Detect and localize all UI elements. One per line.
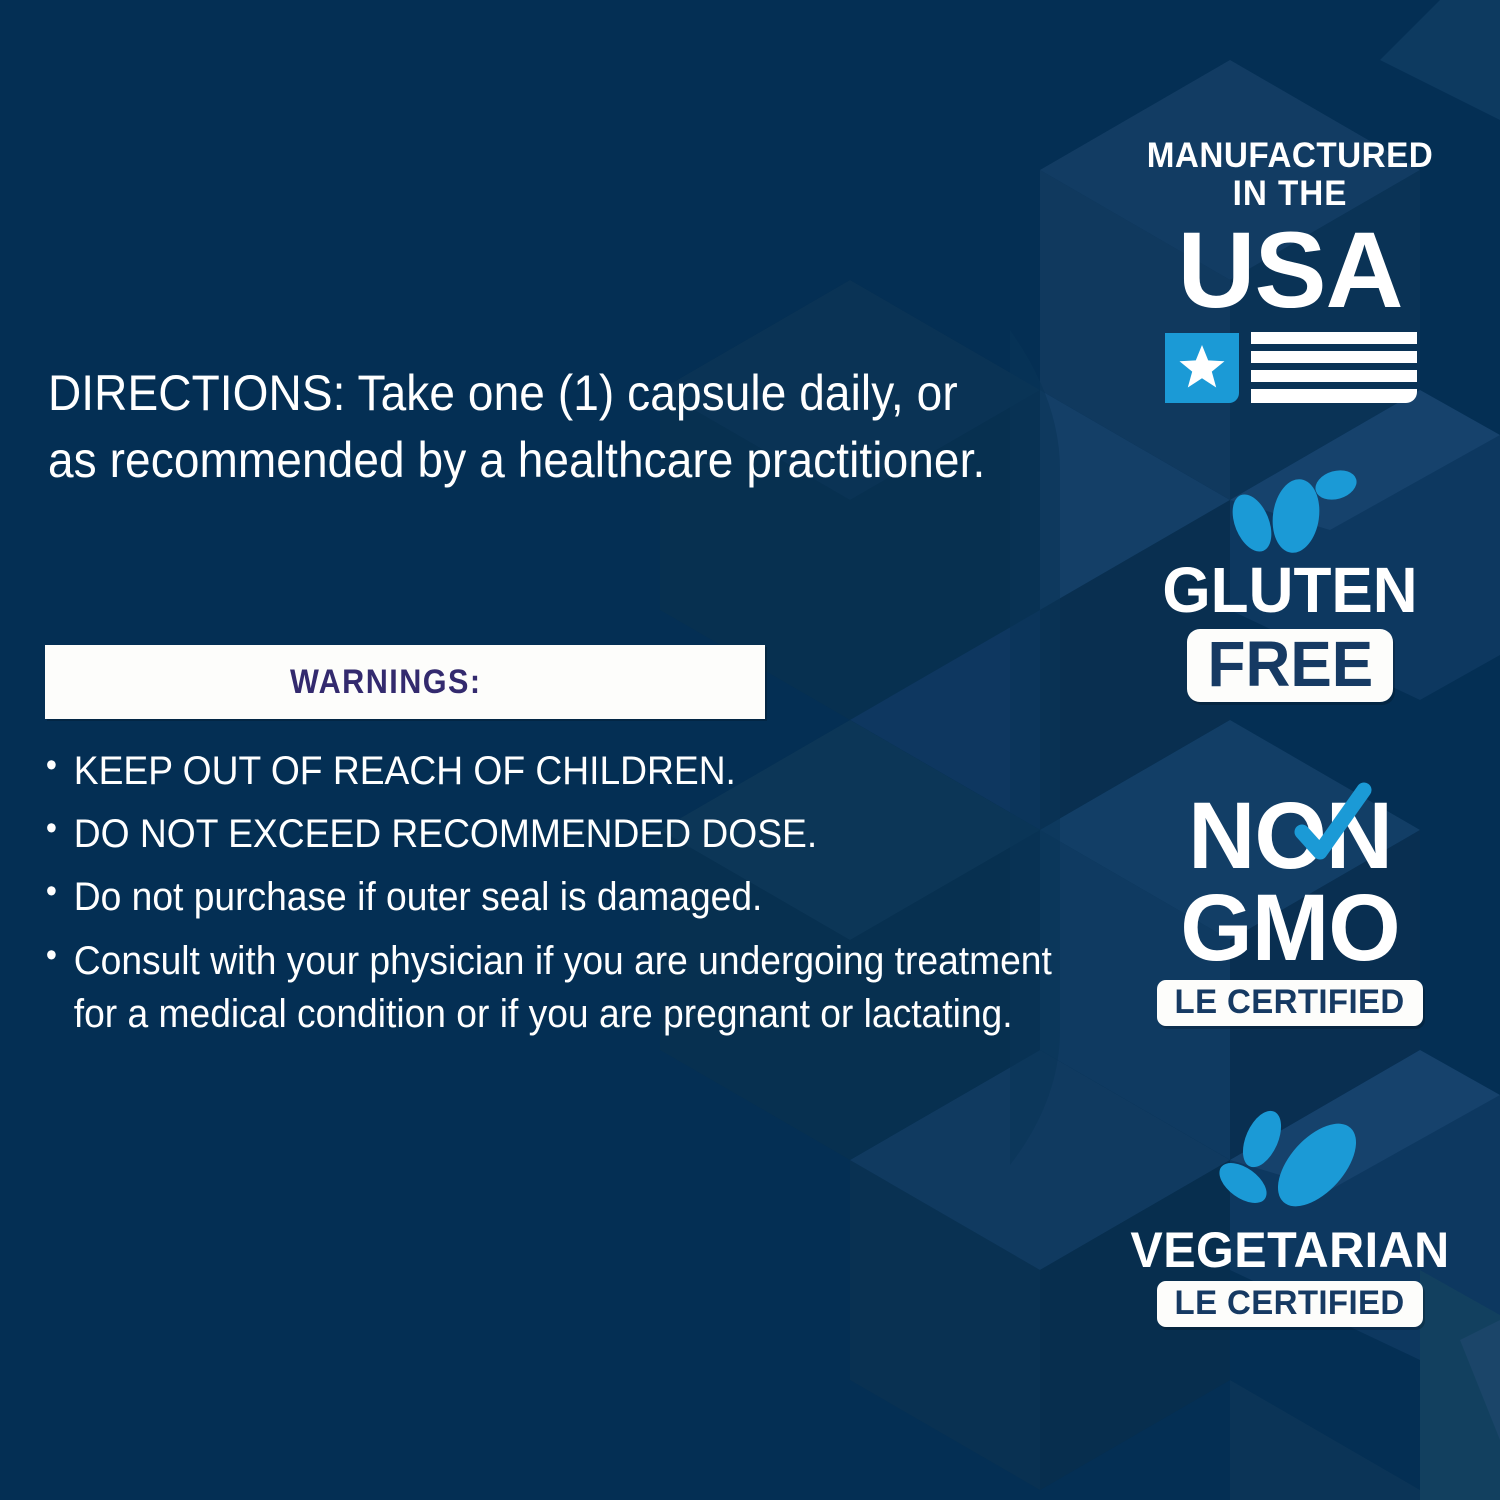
directions-text: DIRECTIONS: Take one (1) capsule daily, …	[48, 360, 1005, 494]
warnings-header-bar: WARNINGS:	[45, 645, 765, 719]
non-gmo-certified-label: LE CERTIFIED	[1175, 983, 1405, 1021]
directions-block: DIRECTIONS: Take one (1) capsule daily, …	[48, 360, 1008, 494]
usa-badge-line1: MANUFACTURED	[1091, 138, 1490, 173]
supplement-label-panel: DIRECTIONS: Take one (1) capsule daily, …	[0, 0, 1500, 1500]
badge-gluten-free: GLUTEN FREE	[1080, 468, 1500, 702]
badge-manufactured-in-usa: MANUFACTURED IN THE USA	[1080, 138, 1500, 405]
gluten-free-word: GLUTEN	[1086, 558, 1493, 622]
list-item: Consult with your physician if you are u…	[44, 935, 1060, 1041]
warnings-header-label: WARNINGS:	[290, 663, 481, 702]
leaves-icon	[1080, 1105, 1500, 1215]
list-item: KEEP OUT OF REACH OF CHILDREN.	[44, 745, 1060, 798]
non-gmo-wordmark: NON	[1186, 790, 1394, 882]
gluten-free-boxed-label: FREE	[1187, 629, 1394, 702]
non-gmo-word-top: NON	[1188, 790, 1392, 882]
warnings-bullet-list: KEEP OUT OF REACH OF CHILDREN. DO NOT EX…	[44, 745, 1044, 1051]
list-item: Do not purchase if outer seal is damaged…	[44, 871, 1060, 924]
usa-badge-word: USA	[1080, 218, 1500, 322]
vegetarian-certified-box: LE CERTIFIED	[1157, 1281, 1422, 1327]
certification-badge-column: MANUFACTURED IN THE USA	[1080, 0, 1500, 1500]
vegetarian-word: VEGETARIAN	[1086, 1225, 1493, 1275]
vegetarian-certified-label: LE CERTIFIED	[1175, 1284, 1405, 1322]
wheat-leaves-icon	[1080, 468, 1500, 554]
non-gmo-word-bottom: GMO	[1084, 882, 1496, 974]
badge-vegetarian: VEGETARIAN LE CERTIFIED	[1080, 1105, 1500, 1327]
list-item: DO NOT EXCEED RECOMMENDED DOSE.	[44, 808, 1060, 861]
usa-flag-icon	[1163, 327, 1417, 405]
badge-non-gmo: NON GMO LE CERTIFIED	[1080, 790, 1500, 1026]
non-gmo-certified-box: LE CERTIFIED	[1157, 980, 1422, 1026]
gluten-free-boxed-word: FREE	[1207, 632, 1373, 696]
